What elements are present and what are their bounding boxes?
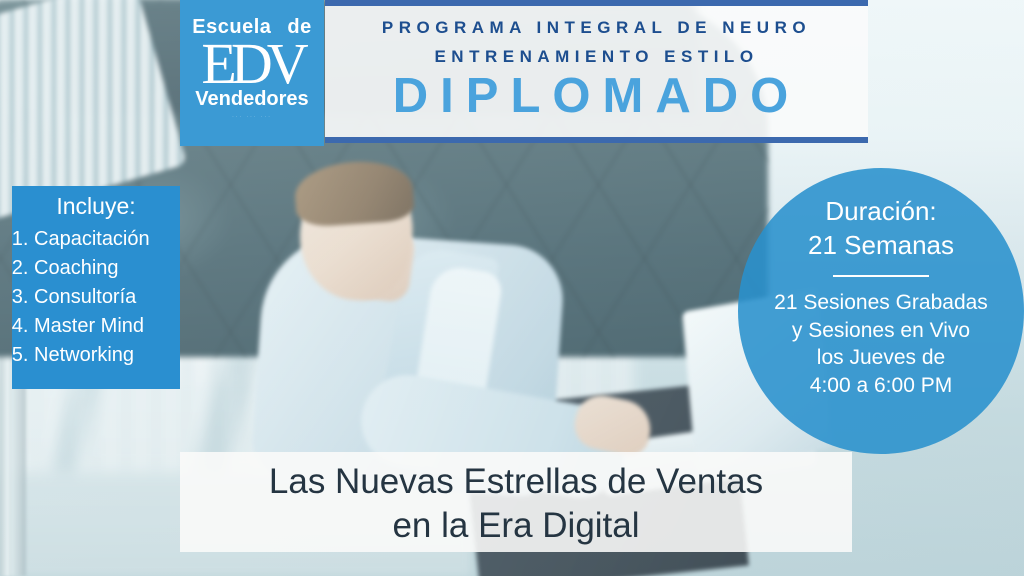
incluye-title: Incluye: — [12, 193, 180, 220]
duracion-divider — [833, 275, 929, 277]
duracion-badge: Duración: 21 Semanas 21 Sesiones Grabada… — [738, 168, 1024, 454]
list-item: Capacitación — [34, 225, 176, 254]
incluye-list: Capacitación Coaching Consultoría Master… — [12, 225, 180, 370]
duracion-detail-4: 4:00 a 6:00 PM — [738, 372, 1024, 400]
banner-headline: DIPLOMADO — [325, 72, 868, 121]
program-banner: PROGRAMA INTEGRAL DE NEURO ENTRENAMIENTO… — [325, 0, 868, 143]
duracion-label: Duración: — [738, 194, 1024, 228]
banner-line-1: PROGRAMA INTEGRAL DE NEURO — [325, 18, 868, 38]
logo-microtext: ··· ··· ··· — [180, 114, 324, 120]
list-item: Networking — [34, 341, 176, 370]
list-item: Coaching — [34, 254, 176, 283]
duracion-detail-2: y Sesiones en Vivo — [738, 317, 1024, 345]
edv-logo: Escuelade EDV Vendedores ··· ··· ··· — [180, 0, 324, 146]
duracion-detail-3: los Jueves de — [738, 344, 1024, 372]
list-item: Master Mind — [34, 312, 176, 341]
duracion-weeks: 21 Semanas — [738, 228, 1024, 262]
logo-bottom-line: Vendedores — [180, 88, 324, 111]
incluye-panel: Incluye: Capacitación Coaching Consultor… — [12, 186, 180, 389]
promo-poster: PROGRAMA INTEGRAL DE NEURO ENTRENAMIENTO… — [0, 0, 1024, 576]
duracion-detail-1: 21 Sesiones Grabadas — [738, 289, 1024, 317]
course-title-line-1: Las Nuevas Estrellas de Ventas — [180, 460, 852, 504]
course-title-line-2: en la Era Digital — [180, 504, 852, 548]
list-item: Consultoría — [34, 283, 176, 312]
logo-monogram: EDV — [180, 37, 324, 90]
course-title-band: Las Nuevas Estrellas de Ventas en la Era… — [180, 452, 852, 552]
banner-line-2: ENTRENAMIENTO ESTILO — [325, 47, 868, 67]
